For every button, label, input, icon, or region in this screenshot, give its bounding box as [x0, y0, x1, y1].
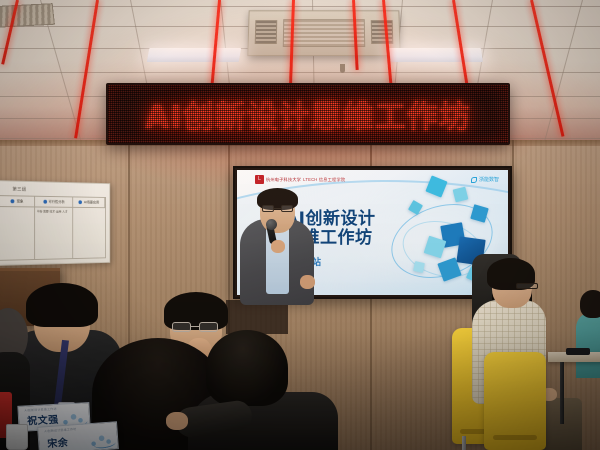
poster-table: 现象 可行性分析 AI场景应用 平衡·需要·技术·运用·人才	[0, 195, 106, 261]
name-card-name: 宋余	[47, 434, 69, 450]
poster-cell	[73, 208, 105, 258]
workshop-photo-scene: AI创新设计思维工作坊 第三组 现象 可行性分析 AI场景应用 平衡·需要·技术…	[0, 0, 600, 450]
seated-attendee-teal	[576, 312, 600, 378]
name-tent-card: AI创新设计思维工作坊 宋余	[37, 421, 119, 450]
slide-brand: 浙能数智	[471, 176, 499, 183]
logo-mark-icon: L	[255, 175, 264, 184]
eyeglasses-icon	[516, 283, 538, 289]
bullet-icon	[43, 200, 47, 204]
dark-monitor	[226, 300, 288, 334]
slide-brand-text: 浙能数智	[479, 176, 499, 183]
seated-attendee-teal-head	[580, 290, 600, 318]
poster-cell: 平衡·需要·技术·运用·人才	[35, 207, 73, 259]
slide-logo-text: 杭州电子科技大学	[266, 177, 301, 183]
poster-column-header: AI场景应用	[73, 197, 105, 208]
poster-column-header: 现象	[0, 196, 35, 207]
poster-cell	[0, 207, 35, 260]
led-banner-text: AI创新设计思维工作坊	[108, 92, 508, 137]
microphone-head-icon	[266, 219, 277, 230]
brand-mark-icon	[471, 177, 477, 183]
bullet-icon	[11, 199, 15, 203]
paper-cup-icon	[6, 424, 28, 450]
slide-logo-subtext: LTECH 信息工程学院	[303, 177, 345, 183]
eyeglasses-icon	[262, 205, 293, 212]
yellow-chair-icon	[484, 352, 546, 450]
led-banner-sign: AI创新设计思维工作坊	[106, 83, 510, 145]
smartphone-icon	[566, 348, 590, 355]
wall-poster-group-board: 第三组 现象 可行性分析 AI场景应用 平衡·需要·技术·运用·人才	[0, 180, 110, 266]
slide-university-logo: L 杭州电子科技大学 LTECH 信息工程学院	[255, 175, 345, 184]
bullet-icon	[79, 200, 82, 204]
poster-title: 第三组	[12, 186, 26, 192]
eyeglasses-icon	[172, 322, 218, 332]
poster-column-header: 可行性分析	[35, 197, 73, 208]
